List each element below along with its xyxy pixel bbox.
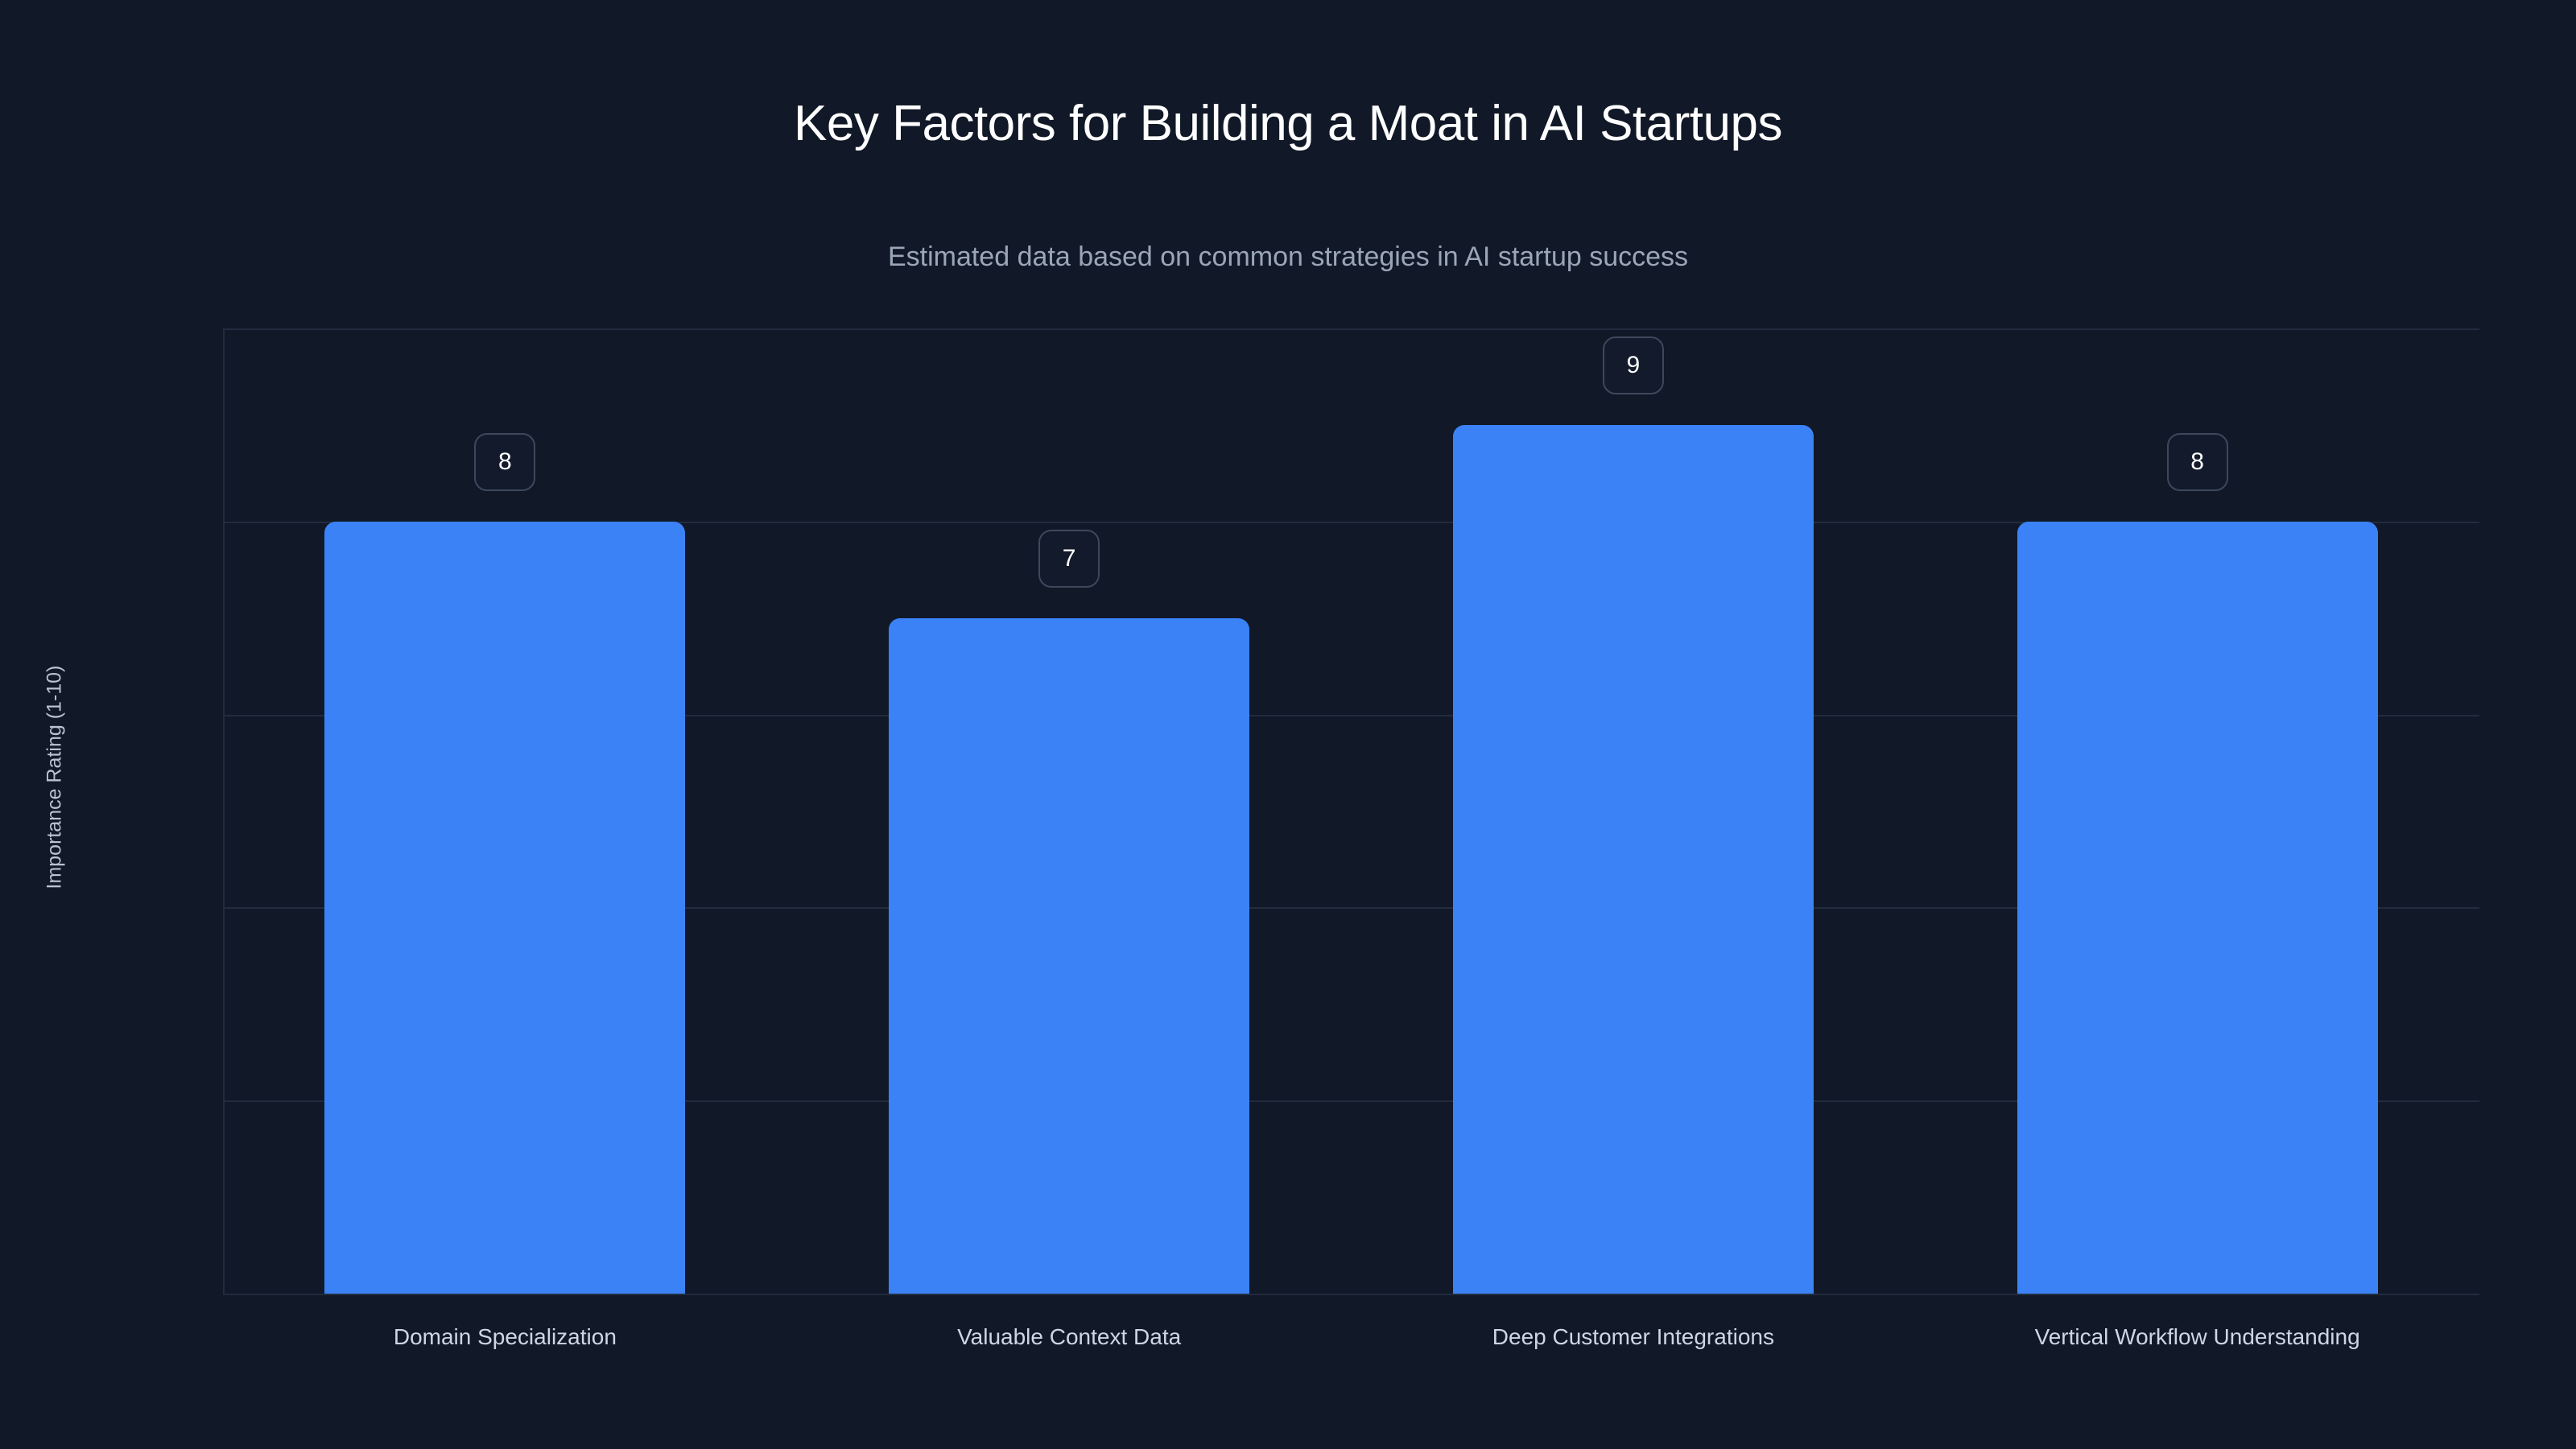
x-axis-category-label: Vertical Workflow Understanding (2035, 1324, 2360, 1350)
bar-value-badge: 8 (474, 433, 535, 491)
chart-title: Key Factors for Building a Moat in AI St… (0, 95, 2576, 152)
bar-chart-figure: Key Factors for Building a Moat in AI St… (0, 0, 2576, 1449)
bar[interactable] (2017, 522, 2378, 1294)
bar[interactable] (324, 522, 685, 1294)
bar-value-badge: 8 (2167, 433, 2228, 491)
y-axis-title: Importance Rating (1-10) (43, 680, 67, 890)
bar[interactable] (889, 618, 1249, 1294)
bar-value-badge: 7 (1038, 530, 1100, 588)
x-axis-category-label: Deep Customer Integrations (1492, 1324, 1774, 1350)
bar[interactable] (1453, 425, 1814, 1294)
bar-value-badge: 9 (1603, 336, 1664, 394)
gridline (223, 328, 2479, 330)
chart-subtitle: Estimated data based on common strategie… (0, 242, 2576, 273)
x-axis-category-label: Domain Specialization (394, 1324, 617, 1350)
gridline (223, 1294, 2479, 1295)
x-axis-category-label: Valuable Context Data (957, 1324, 1181, 1350)
